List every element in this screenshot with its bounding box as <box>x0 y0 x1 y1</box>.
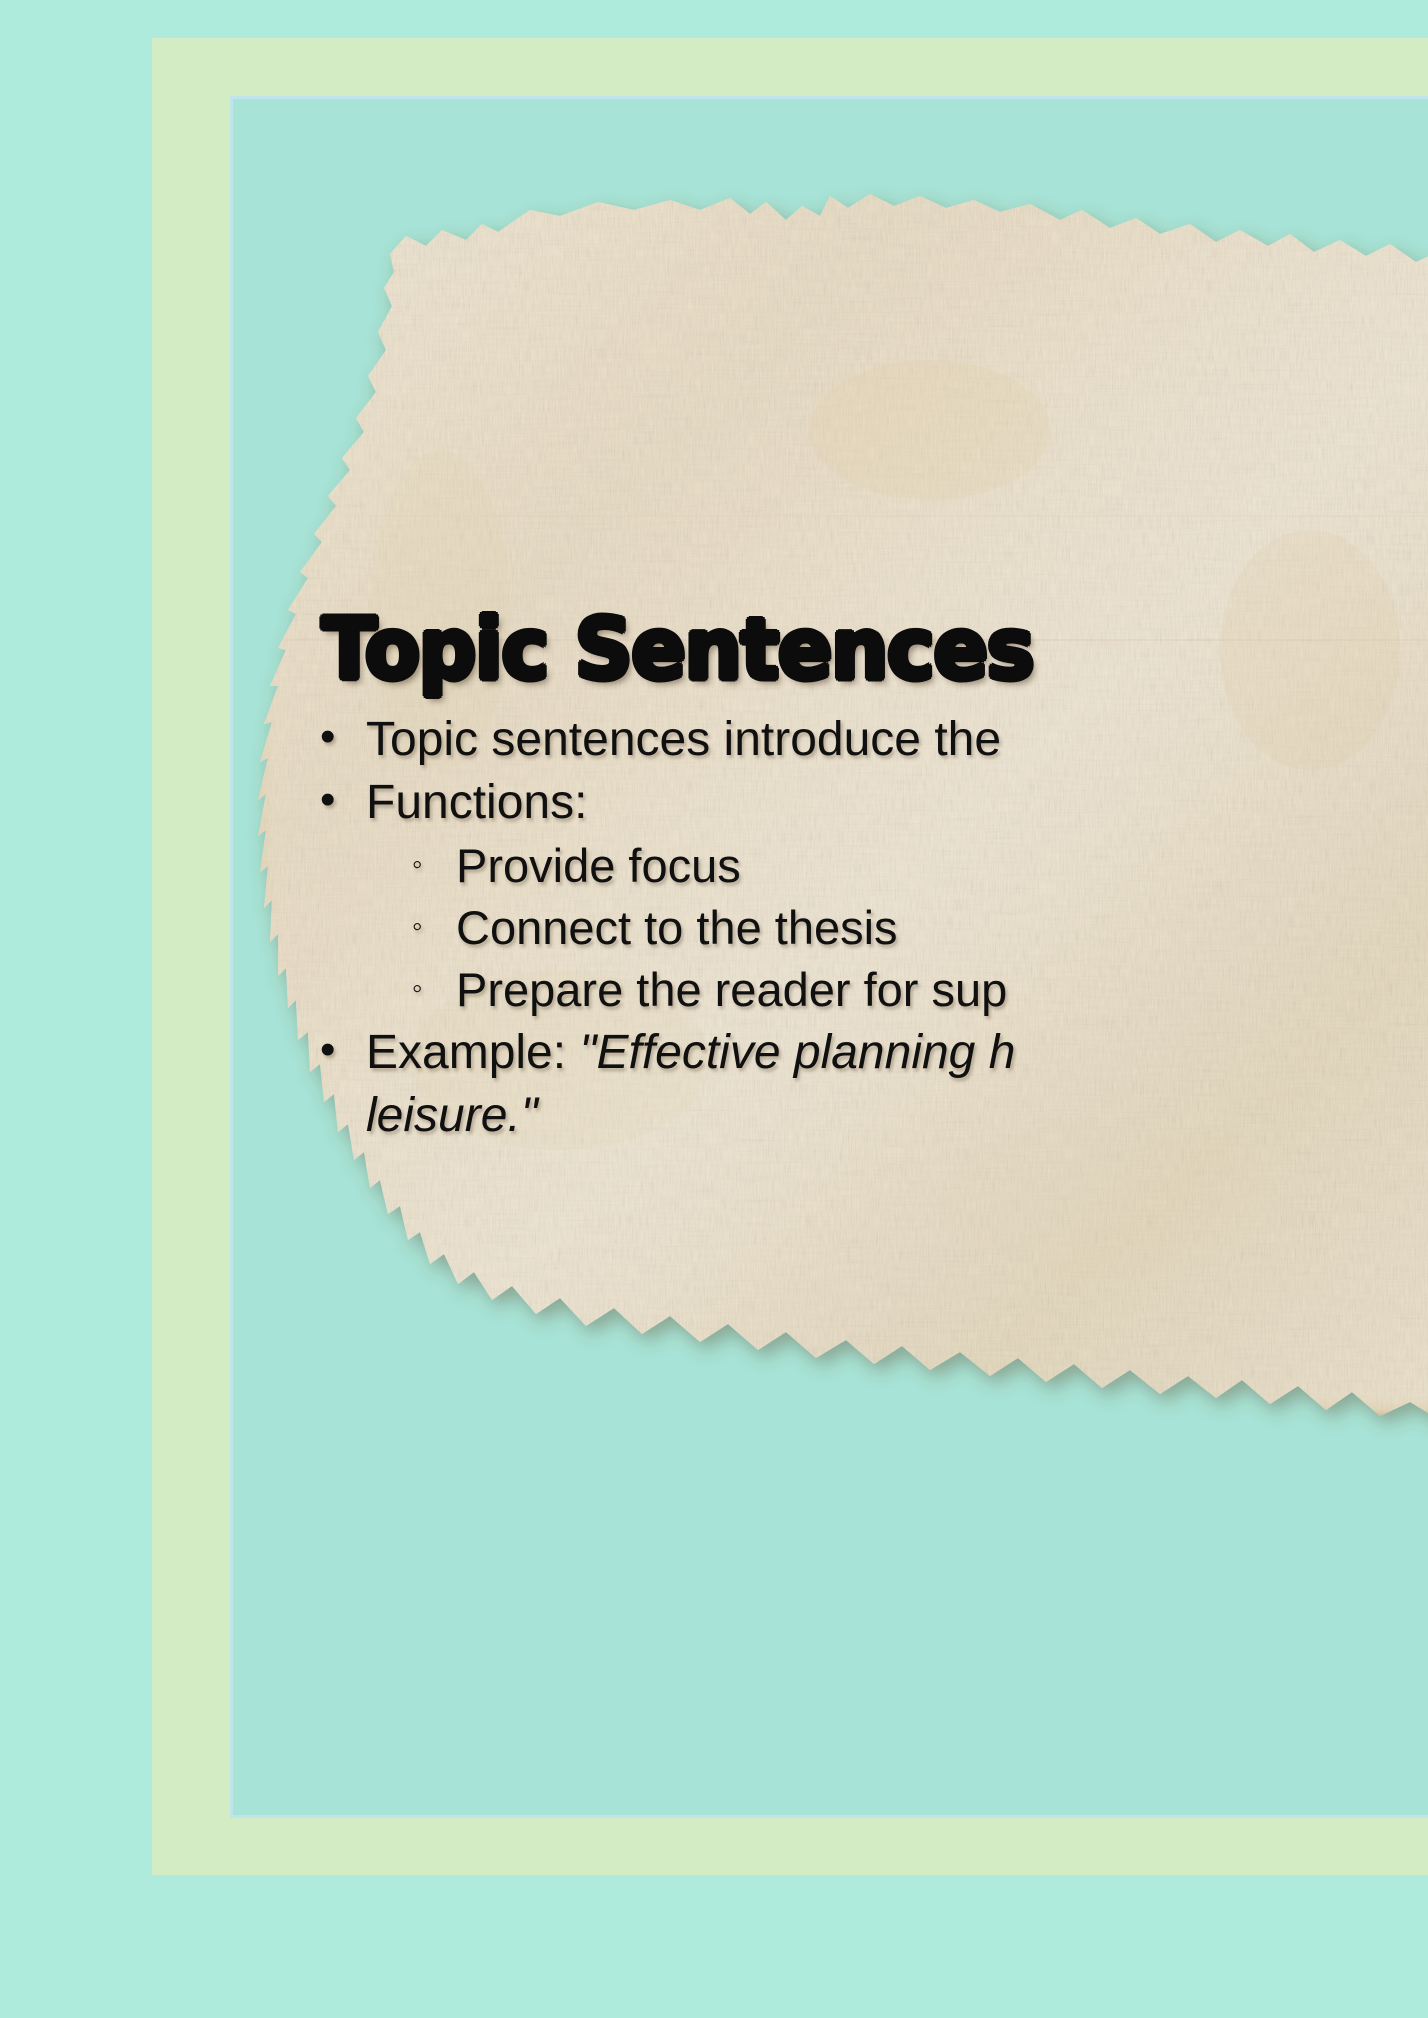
example-label: Example: <box>366 1026 579 1079</box>
example-quote: "Effective planning h <box>579 1026 1015 1079</box>
bullet-marker-icon: • <box>320 1021 366 1079</box>
list-item: ◦ Connect to the thesis <box>320 897 1428 959</box>
page-title: Topic Sentences <box>322 600 1033 699</box>
list-item: ◦ Prepare the reader for sup <box>320 959 1428 1021</box>
list-item-text: Example: "Effective planning h <box>366 1021 1015 1084</box>
slide-root: Topic Sentences • Topic sentences introd… <box>0 0 1428 2018</box>
sub-bullet-marker-icon: ◦ <box>412 835 456 895</box>
list-item-text: Functions: <box>366 771 587 834</box>
list-item-text: Connect to the thesis <box>456 897 898 959</box>
list-item-example: • Example: "Effective planning h <box>320 1021 1428 1084</box>
list-item: • Topic sentences introduce the <box>320 708 1428 771</box>
list-item-example-wrapped-line: leisure." <box>320 1084 1428 1147</box>
sub-bullet-marker-icon: ◦ <box>412 897 456 957</box>
bullet-marker-icon: • <box>320 708 366 766</box>
slide-text-container: Topic Sentences • Topic sentences introd… <box>230 180 1428 1420</box>
list-item-text: Provide focus <box>456 835 741 897</box>
bullet-marker-icon: • <box>320 771 366 829</box>
sub-bullet-marker-icon: ◦ <box>412 959 456 1019</box>
list-item: • Functions: <box>320 771 1428 834</box>
list-item-text: Prepare the reader for sup <box>456 959 1007 1021</box>
list-item: ◦ Provide focus <box>320 835 1428 897</box>
list-item-text: Topic sentences introduce the <box>366 708 1001 771</box>
bullet-list: • Topic sentences introduce the • Functi… <box>320 708 1428 1148</box>
